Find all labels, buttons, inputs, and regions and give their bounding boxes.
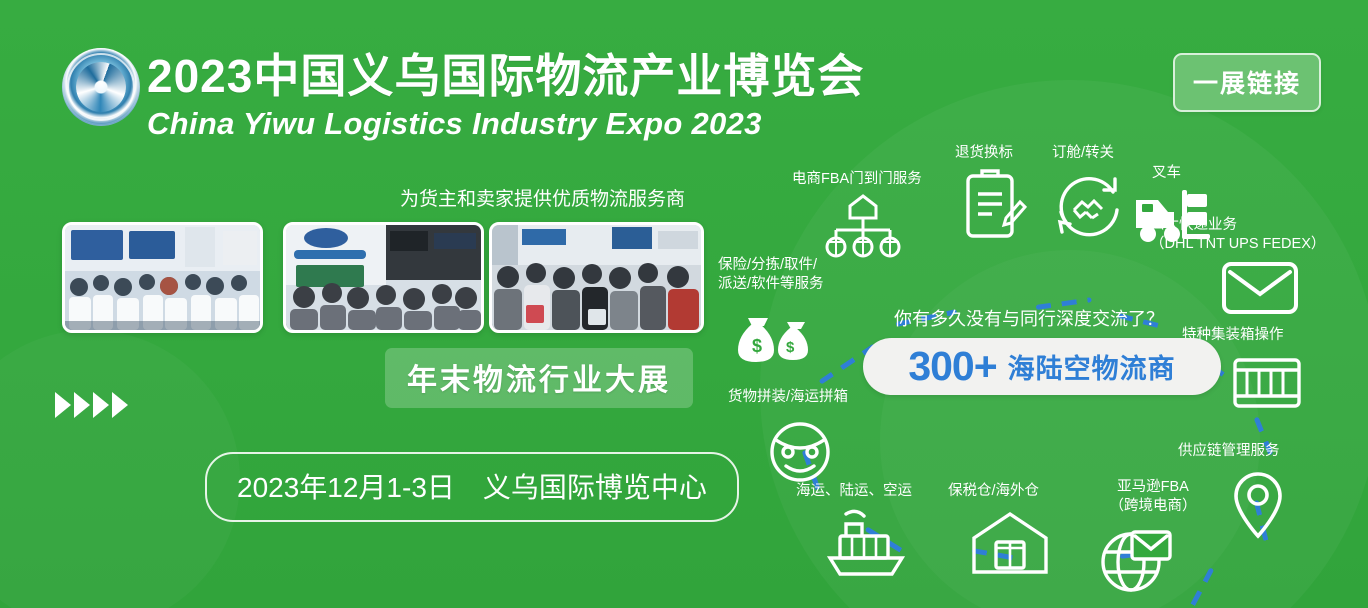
photo-thumbnail	[489, 222, 704, 333]
node-label: 四大快递业务（DHL TNT UPS FEDEX）	[1150, 216, 1360, 253]
expo-banner: 2023中国义乌国际物流产业博览会 China Yiwu Logistics I…	[0, 0, 1368, 608]
svg-text:$: $	[786, 339, 795, 356]
smiley-package-icon	[762, 414, 838, 486]
money-bags-icon: $ $	[732, 306, 820, 368]
node-label: 保险/分拣/取件/派送/软件等服务	[718, 256, 858, 293]
page-title-cn: 2023中国义乌国际物流产业博览会	[147, 52, 864, 100]
warehouse-box-icon	[968, 508, 1052, 578]
background-blob	[0, 330, 240, 608]
cargo-ship-icon	[822, 506, 912, 578]
stat-text: 海陆空物流商	[1008, 347, 1176, 386]
envelope-icon	[1220, 258, 1300, 316]
shipping-container-icon	[1230, 352, 1304, 414]
expo-logo-icon	[62, 48, 140, 126]
chevron-right-icon	[112, 392, 128, 418]
svg-text:$: $	[752, 336, 762, 356]
photo-thumbnail	[283, 222, 484, 333]
node-label: 叉车	[1152, 164, 1181, 183]
question-text: 你有多久没有与同行深度交流了？	[894, 305, 1164, 331]
chevron-arrows	[55, 392, 128, 418]
highlight-box: 年末物流行业大展	[385, 348, 693, 408]
clipboard-pen-icon	[962, 166, 1028, 242]
tagline: 为货主和卖家提供优质物流服务商	[400, 184, 685, 211]
node-label: 供应链管理服务	[1178, 442, 1280, 461]
chevron-right-icon	[93, 392, 109, 418]
chevron-right-icon	[74, 392, 90, 418]
photo-thumbnail	[62, 222, 263, 333]
node-label: 亚马逊FBA（跨境电商）	[1088, 478, 1218, 515]
handshake-refresh-icon	[1048, 166, 1126, 244]
node-label: 电商FBA门到门服务	[792, 170, 922, 189]
location-pin-icon	[1224, 468, 1292, 540]
stat-pill: 300+ 海陆空物流商	[863, 338, 1221, 395]
status-badge[interactable]: 一展链接	[1173, 53, 1321, 112]
hierarchy-boxes-icon	[820, 192, 906, 258]
logo-ring	[67, 53, 135, 121]
node-label: 保税仓/海外仓	[948, 482, 1039, 501]
connector-dash	[1189, 567, 1214, 608]
globe-mail-icon	[1098, 526, 1174, 596]
chevron-right-icon	[55, 392, 71, 418]
node-label: 订舱/转关	[1052, 144, 1114, 163]
node-label: 货物拼装/海运拼箱	[728, 388, 848, 407]
stat-number: 300+	[908, 343, 996, 390]
page-title-en: China Yiwu Logistics Industry Expo 2023	[147, 106, 762, 142]
date-venue-box: 2023年12月1-3日 义乌国际博览中心	[205, 452, 739, 522]
node-label: 退货换标	[955, 144, 1013, 163]
